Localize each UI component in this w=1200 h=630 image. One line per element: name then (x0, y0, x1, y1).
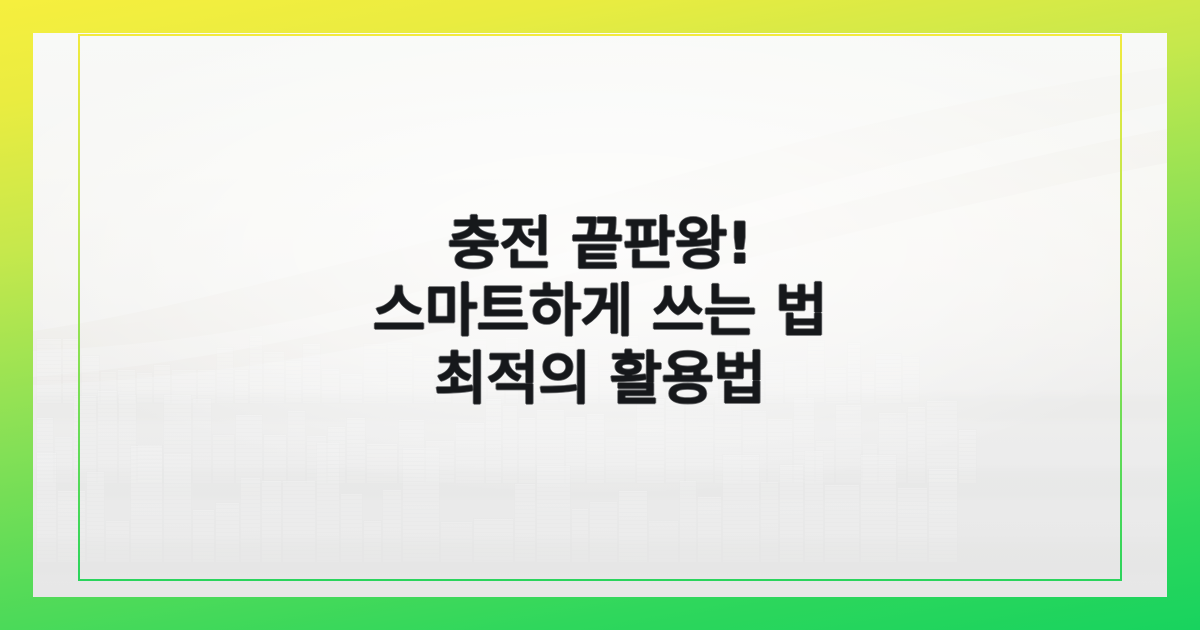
thumbnail-card: 충전 끝판왕! 스마트하게 쓰는 법 최적의 활용법 (0, 0, 1200, 630)
city-buildings (33, 157, 1167, 597)
treeline-near (33, 541, 1167, 575)
background-photo (33, 33, 1167, 597)
